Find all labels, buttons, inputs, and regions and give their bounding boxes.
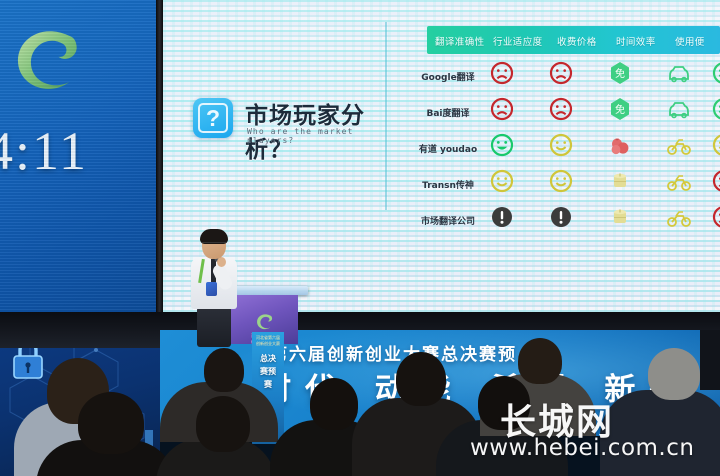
exclamation-dark-icon bbox=[548, 204, 574, 230]
table-cell-1-1 bbox=[548, 96, 574, 122]
table-cell-3-3 bbox=[666, 168, 692, 194]
audience-head bbox=[78, 392, 144, 454]
table-cell-1-2: 免 bbox=[607, 96, 633, 122]
audience-head bbox=[518, 338, 562, 384]
smile-face-green-icon bbox=[711, 60, 720, 86]
side-banner-org-1: 河北省第六届 bbox=[254, 335, 282, 340]
money-bags-red-icon bbox=[607, 132, 633, 158]
table-cell-3-1 bbox=[548, 168, 574, 194]
table-cell-4-4 bbox=[711, 204, 720, 230]
table-cell-0-2: 免 bbox=[607, 60, 633, 86]
table-cell-2-3 bbox=[666, 132, 692, 158]
table-row-label-3: Transn传神 bbox=[411, 178, 485, 191]
table-cell-0-3 bbox=[666, 60, 692, 86]
left-display-screen: 4:11 bbox=[0, 0, 156, 318]
smile-face-yellow-icon bbox=[548, 168, 574, 194]
table-cell-3-0 bbox=[489, 168, 515, 194]
table-cell-1-4 bbox=[711, 96, 720, 122]
table-col-header-2: 收费价格 bbox=[557, 34, 597, 48]
sad-face-red-icon bbox=[548, 96, 574, 122]
sad-face-red-icon bbox=[489, 96, 515, 122]
svg-text:免: 免 bbox=[615, 103, 625, 116]
car-green-icon bbox=[666, 96, 692, 122]
car-green-icon bbox=[666, 60, 692, 86]
sad-face-red-icon bbox=[711, 204, 720, 230]
table-cell-4-0 bbox=[489, 204, 515, 230]
speaker-person bbox=[186, 231, 246, 343]
smile-face-yellow-icon bbox=[489, 168, 515, 194]
motorcycle-yellow-icon bbox=[666, 204, 692, 230]
audience-head bbox=[204, 348, 244, 392]
table-row-label-1: Bai度翻译 bbox=[411, 106, 485, 119]
audience-head bbox=[396, 352, 446, 406]
table-cell-4-3 bbox=[666, 204, 692, 230]
screen-bezel-divider bbox=[156, 0, 163, 318]
coin-stack-yellow-icon bbox=[607, 168, 633, 194]
speaker-legs bbox=[197, 307, 231, 347]
table-cell-2-2 bbox=[607, 132, 633, 158]
free-hexagon-green-icon: 免 bbox=[607, 60, 633, 86]
smile-face-green-icon bbox=[711, 96, 720, 122]
audience-head bbox=[648, 348, 700, 400]
sad-face-red-icon bbox=[489, 60, 515, 86]
comparison-table: 翻译准确性 行业适应度 收费价格 时间效率 使用便 Google翻译 Bai度翻… bbox=[411, 26, 720, 226]
smile-face-yellow-icon bbox=[548, 132, 574, 158]
table-row-label-0: Google翻译 bbox=[411, 70, 485, 83]
presentation-scene: 4:11 bbox=[0, 0, 720, 476]
table-cell-4-2 bbox=[607, 204, 633, 230]
table-header-row: 翻译准确性 行业适应度 收费价格 时间效率 使用便 bbox=[427, 26, 720, 54]
table-row-label-2: 有道 youdao bbox=[411, 142, 485, 155]
table-cell-3-4 bbox=[711, 168, 720, 194]
table-row-label-4: 市场翻译公司 bbox=[411, 214, 485, 227]
table-cell-2-0 bbox=[489, 132, 515, 158]
stage-right-wall bbox=[700, 330, 720, 390]
side-banner-org-2: 创新创业大赛 bbox=[254, 341, 282, 346]
svg-text:免: 免 bbox=[615, 67, 625, 80]
speaker-badge bbox=[206, 282, 217, 296]
free-hexagon-green-icon: 免 bbox=[607, 96, 633, 122]
page-subtitle: Who are the market players? bbox=[247, 127, 398, 145]
green-c-logo-icon bbox=[6, 18, 92, 104]
table-cell-0-4 bbox=[711, 60, 720, 86]
sad-face-red-icon bbox=[548, 60, 574, 86]
side-banner-vertical-text: 总决赛预赛 bbox=[260, 352, 276, 391]
table-cell-1-0 bbox=[489, 96, 515, 122]
sad-face-red-icon bbox=[711, 168, 720, 194]
question-glyph: ? bbox=[206, 107, 220, 130]
smile-face-yellow-icon bbox=[711, 132, 720, 158]
audience-head bbox=[196, 396, 250, 452]
table-col-header-4: 使用便 bbox=[675, 34, 705, 48]
coin-stack-yellow-icon bbox=[607, 204, 633, 230]
audience-shoulders bbox=[600, 390, 720, 476]
motorcycle-yellow-icon bbox=[666, 168, 692, 194]
table-cell-1-3 bbox=[666, 96, 692, 122]
main-presentation-slide: ? 市场玩家分析？ Who are the market players? 翻译… bbox=[163, 0, 720, 312]
table-col-header-0: 翻译准确性 bbox=[435, 34, 485, 48]
countdown-timer: 4:11 bbox=[0, 120, 88, 182]
table-col-header-3: 时间效率 bbox=[616, 34, 656, 48]
speaker-glasses bbox=[202, 242, 226, 248]
green-c-logo-icon bbox=[254, 311, 276, 333]
table-cell-4-1 bbox=[548, 204, 574, 230]
table-cell-2-4 bbox=[711, 132, 720, 158]
table-cell-2-1 bbox=[548, 132, 574, 158]
table-cell-0-0 bbox=[489, 60, 515, 86]
table-cell-0-1 bbox=[548, 60, 574, 86]
grin-face-green-icon bbox=[489, 132, 515, 158]
exclamation-dark-icon bbox=[489, 204, 515, 230]
audience-head bbox=[478, 376, 530, 430]
question-mark-icon: ? bbox=[193, 98, 233, 138]
motorcycle-yellow-icon bbox=[666, 132, 692, 158]
audience-head bbox=[310, 378, 358, 430]
table-col-header-1: 行业适应度 bbox=[493, 34, 543, 48]
table-cell-3-2 bbox=[607, 168, 633, 194]
